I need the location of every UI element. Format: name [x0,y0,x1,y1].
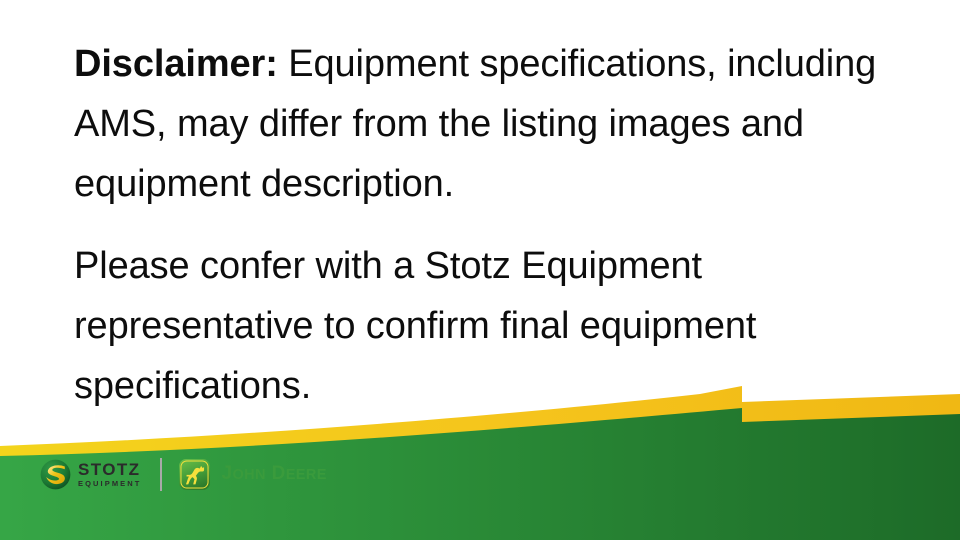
disclaimer-paragraph-2: Please confer with a Stotz Equipment rep… [74,236,910,416]
logo-divider [160,458,162,491]
jd-name-j: J [222,463,233,484]
jd-name-ohn: OHN [232,467,265,483]
john-deere-logo[interactable]: JOHN DEERE [178,458,327,491]
jd-name-d: D [272,463,286,484]
stotz-wordmark: STOTZ EQUIPMENT [78,461,142,488]
stotz-equipment-logo[interactable]: STOTZ EQUIPMENT [40,459,142,490]
disclaimer-paragraph-1: Disclaimer: Equipment specifications, in… [74,34,910,214]
disclaimer-lead-label: Disclaimer: [74,43,278,85]
john-deere-leaping-deer-icon [178,458,211,491]
slide-canvas: Disclaimer: Equipment specifications, in… [0,0,960,540]
stotz-s-swoosh-icon [40,459,71,490]
stotz-name: STOTZ [78,461,142,478]
jd-name-eere: EERE [286,467,327,483]
footer-logo-bar: STOTZ EQUIPMENT JOH [40,452,327,496]
disclaimer-text-block: Disclaimer: Equipment specifications, in… [74,34,910,416]
john-deere-wordmark: JOHN DEERE [222,463,327,485]
stotz-subtitle: EQUIPMENT [78,480,142,488]
